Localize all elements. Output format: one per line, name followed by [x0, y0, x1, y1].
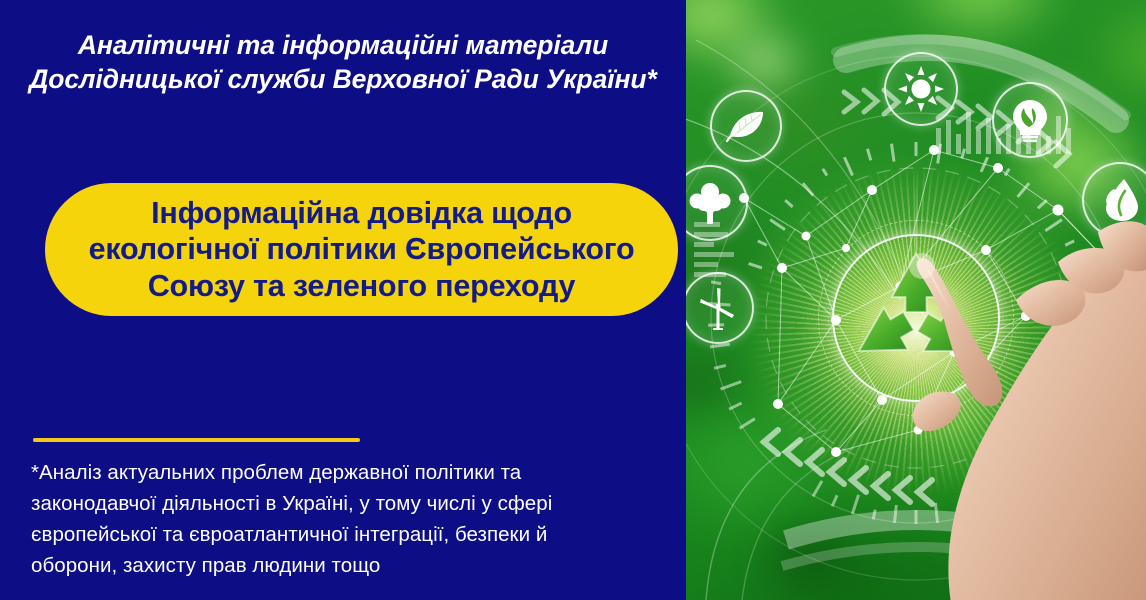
sprout-icon: [1084, 268, 1146, 340]
divider-rule: [33, 438, 360, 442]
footnote-line-1: *Аналіз актуальних проблем державної пол…: [31, 457, 661, 488]
banner-line-3: Союзу та зеленого переходу: [51, 268, 672, 305]
leaf-icon: [710, 90, 782, 162]
bulb-icon: [992, 82, 1068, 158]
page-title-line-2: Дослідницької служби Верховної Ради Укра…: [8, 62, 678, 96]
banner-line-1: Інформаційна довідка щодо: [51, 195, 672, 232]
sun-icon: [884, 52, 958, 126]
hero-image: [686, 0, 1146, 600]
page-title: Аналітичні та інформаційні матеріали Дос…: [0, 28, 686, 97]
footnote-line-3: європейської та євроатлантичної інтеграц…: [31, 519, 661, 550]
footnote-line-2: законодавчої діяльності в Україні, у том…: [31, 488, 661, 519]
banner-line-2: екологічної політики Європейського: [51, 231, 672, 268]
cover-page: Аналітичні та інформаційні матеріали Дос…: [0, 0, 1146, 600]
footnote-text: *Аналіз актуальних проблем державної пол…: [31, 457, 661, 582]
left-text-panel: Аналітичні та інформаційні матеріали Дос…: [0, 0, 686, 600]
footnote-line-4: оборони, захисту прав людини тощо: [31, 550, 661, 581]
banner-text: Інформаційна довідка щодо екологічної по…: [45, 195, 678, 305]
title-banner: Інформаційна довідка щодо екологічної по…: [45, 183, 678, 316]
page-title-line-1: Аналітичні та інформаційні матеріали: [8, 28, 678, 62]
